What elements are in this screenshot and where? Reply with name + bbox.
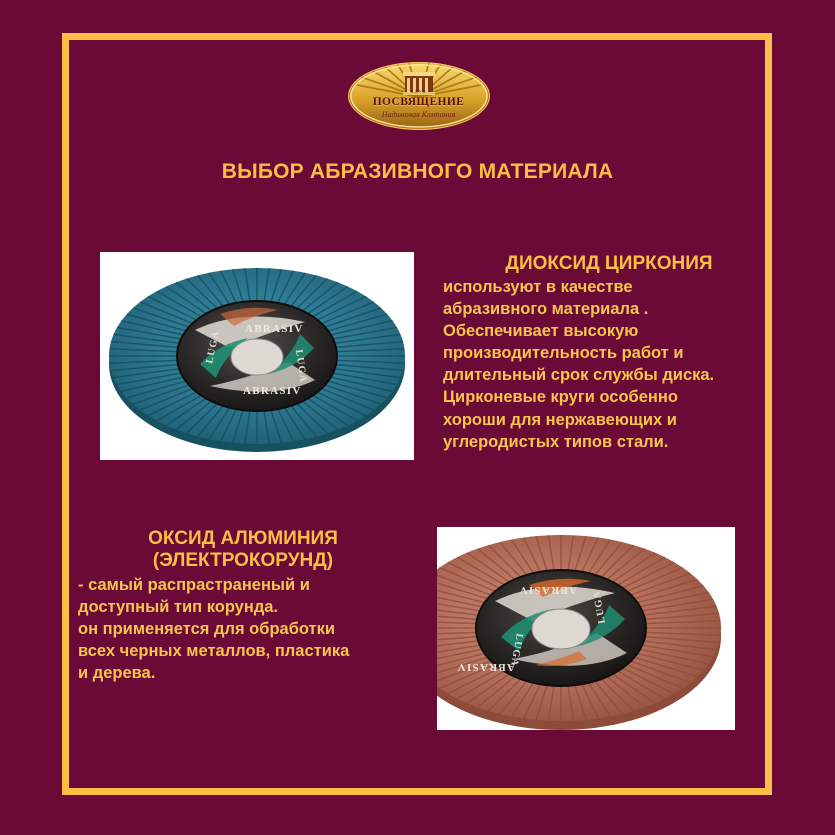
alumina-flap-disc-photo: ABRASIV ABRASIV LUGA LUGA: [437, 527, 735, 730]
zirconia-line-3: Обеспечивает высокую: [443, 320, 763, 342]
zirconia-line-4: производительность работ и: [443, 342, 763, 364]
alumina-heading-line-2: (ЭЛЕКТРОКОРУНД): [78, 550, 408, 572]
disc-brand-text-bottom: ABRASIV: [243, 385, 302, 397]
alumina-text-block: ОКСИД АЛЮМИНИЯ (ЭЛЕКТРОКОРУНД) - самый р…: [78, 528, 408, 684]
zirconia-line-2: абразивного материала .: [443, 298, 763, 320]
zirconia-text-block: ДИОКСИД ЦИРКОНИЯ используют в качестве а…: [443, 253, 763, 453]
zirconia-line-8: углеродистых типов стали.: [443, 431, 763, 453]
alumina-line-3: он применяется для обработки: [78, 618, 408, 640]
zirconia-line-5: длительный срок службы диска.: [443, 364, 763, 386]
alumina-disc-illustration: ABRASIV ABRASIV LUGA LUGA: [437, 527, 735, 730]
alumina-line-4: всех черных металлов, пластика: [78, 640, 408, 662]
slide: КЛУБ ПОСВЯЩЕНИЕ Надимовая Компания ВЫБОР…: [0, 0, 835, 835]
alumina-body: - самый распрастраненый и доступный тип …: [78, 574, 408, 684]
zirconia-disc-illustration: ABRASIV ABRASIV LUGA LUGA: [100, 252, 414, 460]
disc-brand-text-top: ABRASIV: [245, 323, 304, 335]
company-logo: КЛУБ ПОСВЯЩЕНИЕ Надимовая Компания: [348, 62, 488, 128]
page-title: ВЫБОР АБРАЗИВНОГО МАТЕРИАЛА: [0, 160, 835, 184]
zirconia-line-7: хороши для нержавеющих и: [443, 409, 763, 431]
disc-brand-text-top: ABRASIV: [518, 584, 577, 596]
alumina-line-5: и дерева.: [78, 662, 408, 684]
zirconia-body: используют в качестве абразивного матери…: [443, 276, 763, 452]
alumina-heading-line-1: ОКСИД АЛЮМИНИЯ: [78, 528, 408, 550]
alumina-line-2: доступный тип корунда.: [78, 596, 408, 618]
logo-company-name: ПОСВЯЩЕНИЕ: [349, 96, 489, 108]
zirconia-heading: ДИОКСИД ЦИРКОНИЯ: [443, 253, 763, 275]
disc-brand-text-bottom: ABRASIV: [456, 661, 515, 673]
zirconia-line-1: используют в качестве: [443, 276, 763, 298]
logo-company-subtitle: Надимовая Компания: [349, 110, 489, 119]
alumina-line-1: - самый распрастраненый и: [78, 574, 408, 596]
zirconia-flap-disc-photo: ABRASIV ABRASIV LUGA LUGA: [100, 252, 414, 460]
logo-tiny-text: КЛУБ: [349, 89, 489, 94]
alumina-heading: ОКСИД АЛЮМИНИЯ (ЭЛЕКТРОКОРУНД): [78, 528, 408, 573]
zirconia-line-6: Цирконевые круги особенно: [443, 386, 763, 408]
logo-oval-badge: КЛУБ ПОСВЯЩЕНИЕ Надимовая Компания: [348, 62, 490, 130]
